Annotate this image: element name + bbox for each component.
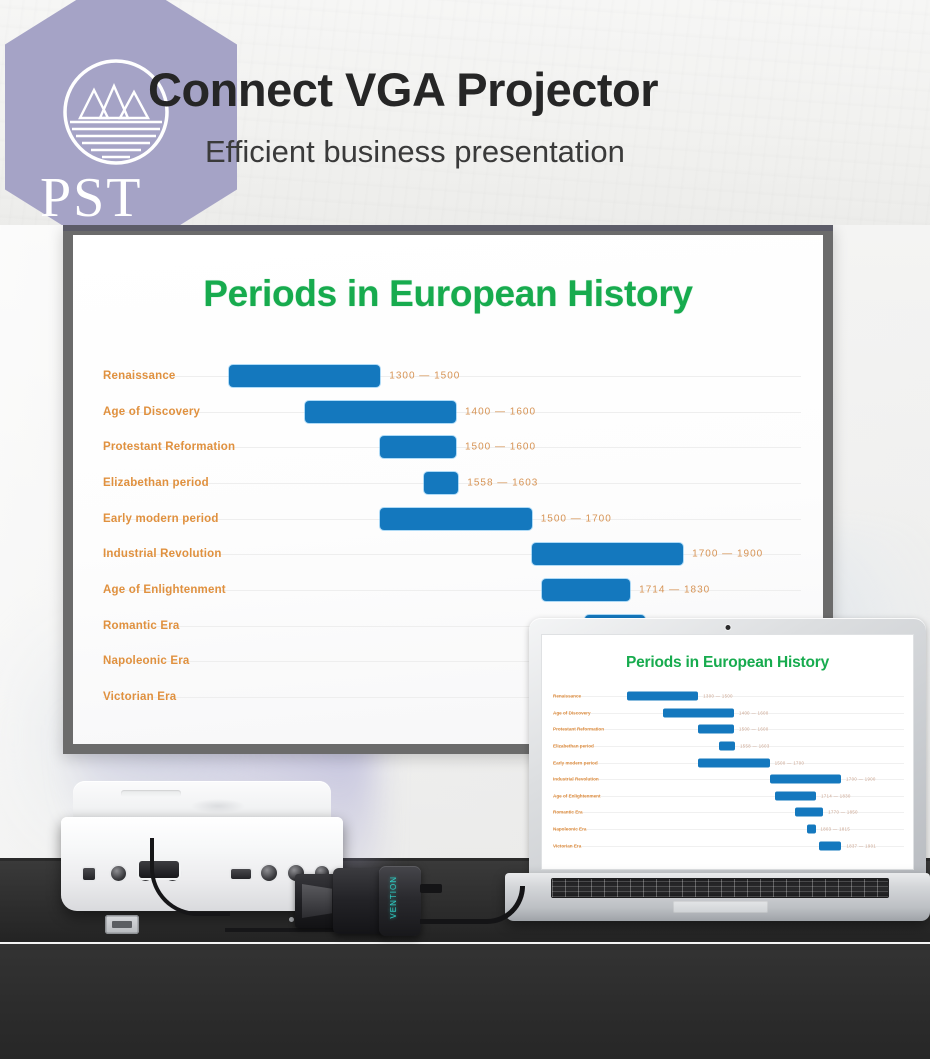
chart-row-label: Renaissance bbox=[553, 694, 581, 699]
chart-bar bbox=[229, 365, 380, 387]
chart-row-label: Protestant Reformation bbox=[103, 441, 235, 453]
chart-range-label: 1714 — 1830 bbox=[821, 793, 851, 798]
chart-bar bbox=[627, 692, 698, 701]
chart-bar bbox=[305, 401, 456, 423]
chart-range-label: 1300 — 1500 bbox=[703, 694, 733, 699]
chart-row: Age of Enlightenment1714 — 1830 bbox=[73, 572, 823, 608]
page-header-banner: PST Connect VGA Projector Efficient busi… bbox=[0, 0, 930, 232]
product-photo-scene: Periods in European History Renaissance1… bbox=[0, 225, 930, 1059]
desk-front-edge bbox=[0, 942, 930, 1059]
chart-range-label: 1803 — 1815 bbox=[821, 827, 851, 832]
port-hdmi-icon[interactable] bbox=[231, 869, 251, 879]
chart-bar bbox=[424, 472, 458, 494]
chart-range-label: 1558 — 1603 bbox=[467, 477, 538, 488]
chart-row-label: Protestant Reformation bbox=[553, 727, 604, 732]
webcam-icon bbox=[725, 625, 730, 630]
chart-title: Periods in European History bbox=[73, 273, 823, 315]
chart-row-label: Victorian Era bbox=[103, 691, 176, 703]
chart-row-label: Age of Enlightenment bbox=[103, 584, 226, 596]
chart-bar bbox=[698, 725, 734, 734]
chart-row-label: Elizabethan period bbox=[103, 477, 209, 489]
page-subtitle: Efficient business presentation bbox=[205, 134, 625, 170]
chart-row: Elizabethan period1558 — 1603 bbox=[73, 465, 823, 501]
port-usb-icon[interactable] bbox=[83, 868, 95, 880]
chart-range-label: 1700 — 1900 bbox=[846, 777, 876, 782]
laptop-chart-title: Periods in European History bbox=[541, 654, 914, 672]
chart-row: Early modern period1500 — 1700 bbox=[73, 501, 823, 537]
chart-row: Renaissance1300 — 1500 bbox=[541, 688, 914, 705]
projector-top-shell bbox=[73, 781, 331, 821]
chart-range-label: 1500 — 1700 bbox=[775, 760, 805, 765]
chart-range-label: 1500 — 1600 bbox=[465, 442, 536, 453]
chart-range-label: 1400 — 1600 bbox=[465, 406, 536, 417]
chart-row: Romantic Era1770 — 1850 bbox=[541, 804, 914, 821]
chart-row-label: Age of Discovery bbox=[103, 406, 200, 418]
laptop: Periods in European History Renaissance1… bbox=[505, 618, 930, 918]
port-svideo-icon[interactable] bbox=[261, 865, 277, 881]
chart-row-label: Romantic Era bbox=[553, 810, 583, 815]
chart-row: Napoleonic Era1803 — 1815 bbox=[541, 821, 914, 838]
projector-vent bbox=[121, 790, 181, 797]
chart-row: Industrial Revolution1700 — 1900 bbox=[73, 536, 823, 572]
laptop-lid: Periods in European History Renaissance1… bbox=[529, 618, 926, 880]
chart-row: Protestant Reformation1500 — 1600 bbox=[541, 721, 914, 738]
chart-row-label: Napoleonic Era bbox=[553, 827, 586, 832]
chart-range-label: 1558 — 1603 bbox=[740, 744, 770, 749]
chart-bar bbox=[775, 791, 816, 800]
chart-row-label: Early modern period bbox=[103, 513, 219, 525]
page-title: Connect VGA Projector bbox=[148, 62, 658, 117]
adapter-barrel bbox=[333, 868, 385, 934]
chart-range-label: 1300 — 1500 bbox=[389, 370, 460, 381]
chart-bar bbox=[380, 508, 531, 530]
laptop-keyboard[interactable] bbox=[551, 878, 889, 898]
chart-range-label: 1714 — 1830 bbox=[639, 584, 710, 595]
adapter-housing bbox=[379, 866, 421, 936]
chart-row-label: Romantic Era bbox=[103, 620, 180, 632]
chart-bar bbox=[719, 742, 735, 751]
chart-row-label: Age of Enlightenment bbox=[553, 793, 600, 798]
chart-row-baseline bbox=[553, 829, 904, 830]
chart-bar bbox=[807, 825, 816, 834]
chart-row-label: Industrial Revolution bbox=[103, 548, 222, 560]
chart-bar bbox=[795, 808, 824, 817]
keyboard-keys bbox=[552, 879, 888, 897]
chart-bar bbox=[663, 708, 734, 717]
chart-range-label: 1837 — 1901 bbox=[847, 843, 877, 848]
chart-range-label: 1700 — 1900 bbox=[692, 549, 763, 560]
chart-row: Early modern period1500 — 1700 bbox=[541, 754, 914, 771]
adapter-brand-label: VENTION bbox=[389, 876, 398, 919]
chart-row-label: Renaissance bbox=[103, 370, 176, 382]
chart-bar bbox=[380, 436, 456, 458]
laptop-base bbox=[505, 873, 930, 921]
brand-wordmark: PST bbox=[40, 170, 200, 226]
chart-bar bbox=[770, 775, 841, 784]
chart-row: Age of Discovery1400 — 1600 bbox=[73, 394, 823, 430]
chart-row-label: Napoleonic Era bbox=[103, 655, 190, 667]
chart-row-label: Early modern period bbox=[553, 760, 598, 765]
chart-row: Elizabethan period1558 — 1603 bbox=[541, 738, 914, 755]
chart-row-label: Industrial Revolution bbox=[553, 777, 599, 782]
chart-row-baseline bbox=[553, 796, 904, 797]
laptop-chart-rows: Renaissance1300 — 1500Age of Discovery14… bbox=[541, 688, 914, 854]
projector-brand-emboss bbox=[191, 799, 245, 813]
laptop-screen: Periods in European History Renaissance1… bbox=[541, 634, 914, 870]
chart-row: Protestant Reformation1500 — 1600 bbox=[73, 429, 823, 465]
chart-row: Age of Enlightenment1714 — 1830 bbox=[541, 788, 914, 805]
chart-row: Renaissance1300 — 1500 bbox=[73, 358, 823, 394]
vga-adapter-dongle[interactable]: VENTION bbox=[295, 864, 425, 942]
chart-row-label: Age of Discovery bbox=[553, 710, 591, 715]
chart-range-label: 1500 — 1600 bbox=[739, 727, 769, 732]
chart-row-label: Victorian Era bbox=[553, 843, 581, 848]
chart-range-label: 1770 — 1850 bbox=[828, 810, 858, 815]
chart-bar bbox=[542, 579, 630, 601]
power-socket[interactable] bbox=[105, 915, 139, 934]
chart-row-label: Elizabethan period bbox=[553, 744, 594, 749]
chart-bar bbox=[532, 543, 683, 565]
chart-range-label: 1400 — 1600 bbox=[739, 710, 769, 715]
chart-row: Industrial Revolution1700 — 1900 bbox=[541, 771, 914, 788]
chart-bar bbox=[698, 758, 769, 767]
chart-row: Victorian Era1837 — 1901 bbox=[541, 837, 914, 854]
chart-range-label: 1500 — 1700 bbox=[541, 513, 612, 524]
chart-bar bbox=[819, 841, 842, 850]
port-audio-red-icon[interactable] bbox=[111, 866, 126, 881]
chart-row: Age of Discovery1400 — 1600 bbox=[541, 705, 914, 722]
laptop-trackpad[interactable] bbox=[673, 901, 768, 913]
